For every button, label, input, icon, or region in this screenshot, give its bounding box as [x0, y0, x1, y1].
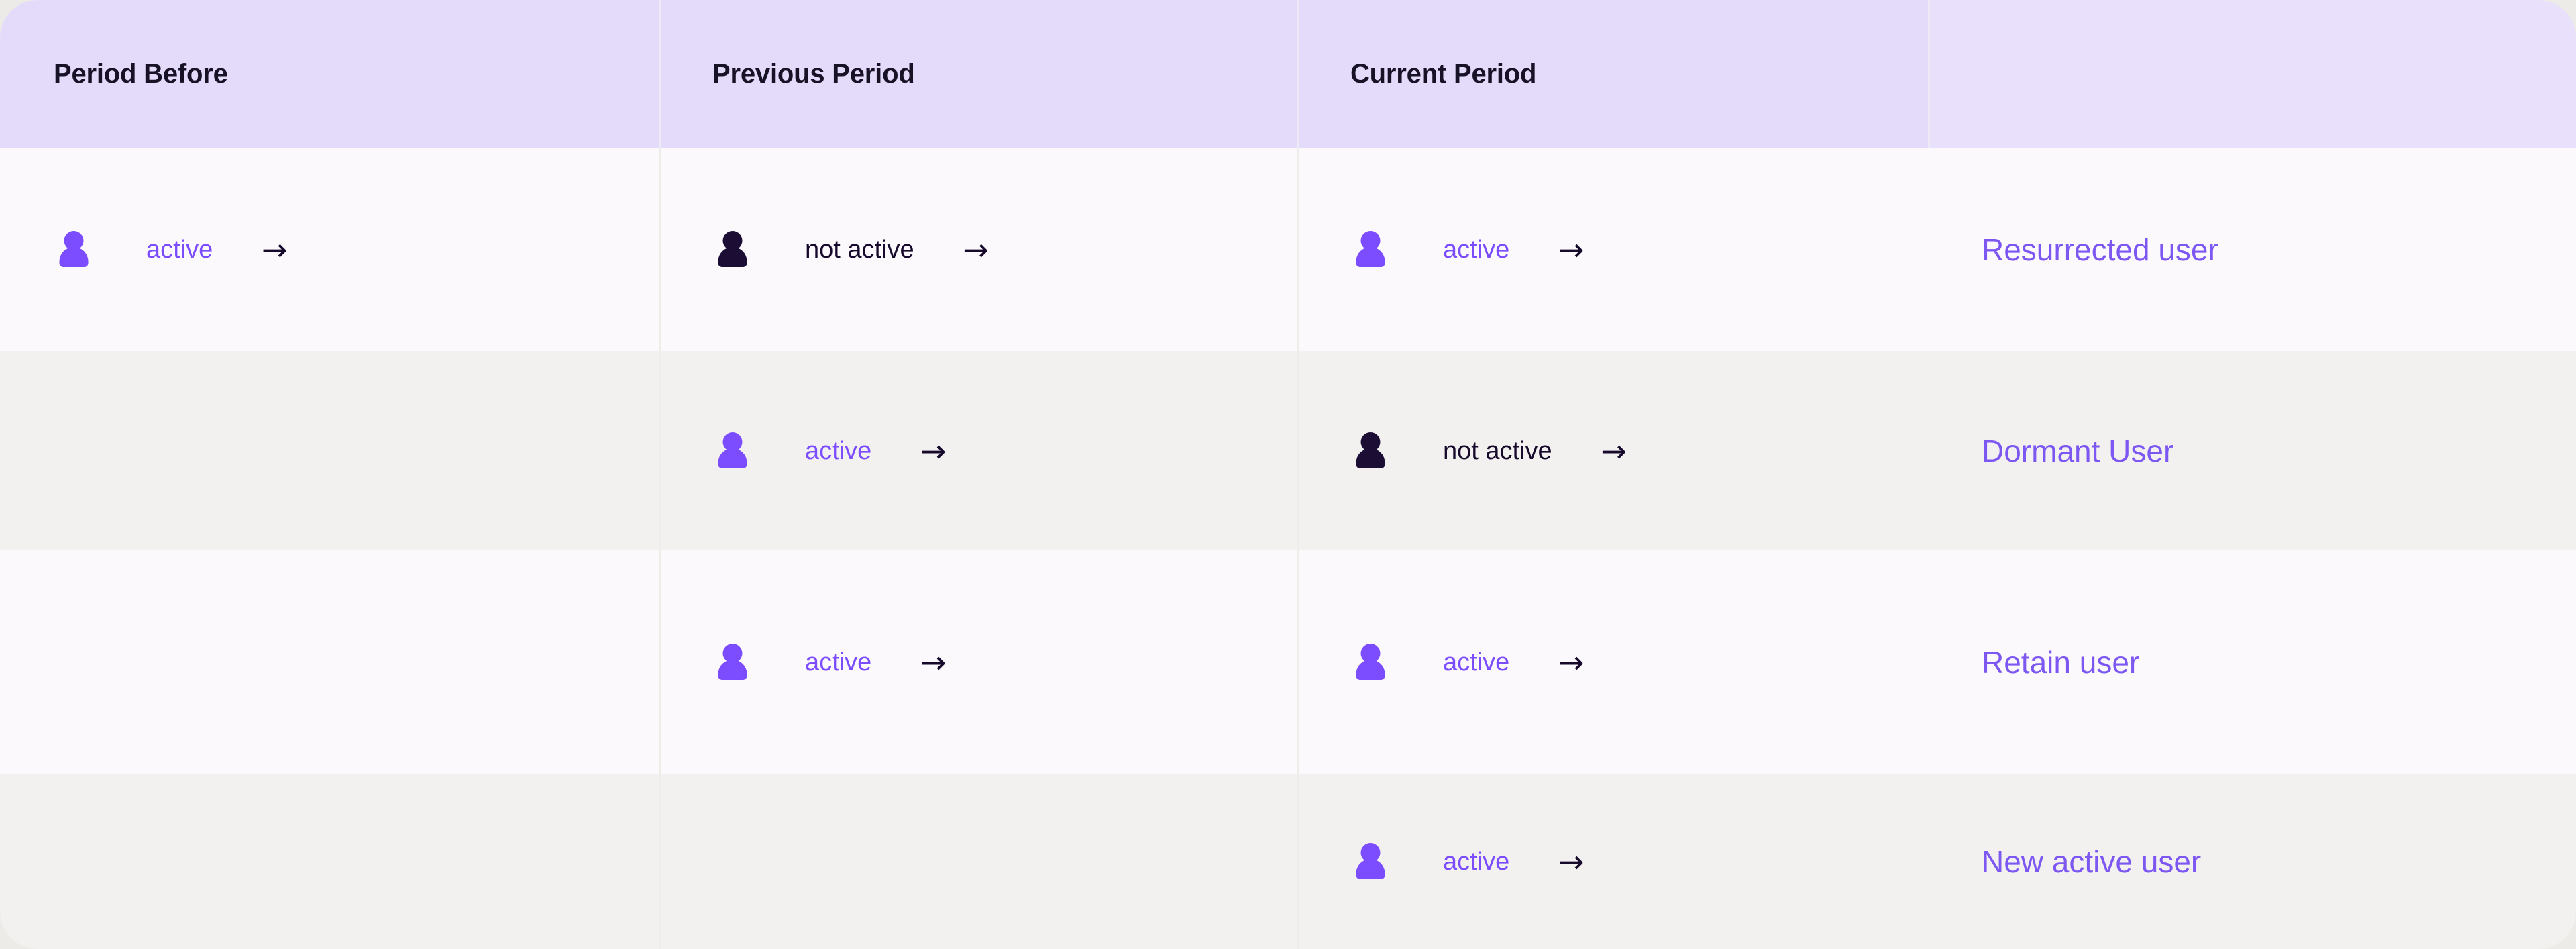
- state-group: active →: [712, 642, 953, 683]
- arrow-right-icon: →: [1551, 234, 1591, 265]
- cell-result: Dormant User: [1928, 351, 2576, 550]
- column-header-previous-period: Previous Period: [659, 0, 1297, 148]
- table-row: active → active → Retain user: [0, 550, 2576, 774]
- arrow-right-icon: →: [1551, 846, 1591, 877]
- state-group: not active →: [1350, 431, 1634, 471]
- state-label: not active: [1443, 438, 1552, 464]
- cell-current-period: active →: [1297, 148, 1928, 351]
- state-label: active: [1443, 650, 1509, 675]
- table-row: active → not active → Dormant User: [0, 351, 2576, 550]
- column-header-label: Period Before: [54, 60, 228, 87]
- user-icon: [1350, 431, 1391, 471]
- state-group: active →: [1350, 642, 1591, 683]
- cell-previous-period: active →: [659, 351, 1297, 550]
- arrow-right-icon: →: [913, 647, 953, 678]
- cell-result: Retain user: [1928, 550, 2576, 774]
- arrow-right-icon: →: [956, 234, 996, 265]
- result-label: Retain user: [1982, 647, 2139, 678]
- state-group: active →: [1350, 842, 1591, 882]
- result-label: New active user: [1982, 846, 2201, 877]
- user-icon: [54, 230, 94, 270]
- column-header-label: Previous Period: [712, 60, 915, 87]
- user-icon: [712, 642, 753, 683]
- arrow-right-icon: →: [254, 234, 294, 265]
- user-icon: [712, 230, 753, 270]
- cell-current-period: active →: [1297, 550, 1928, 774]
- user-icon: [1350, 642, 1391, 683]
- column-header-label: Current Period: [1350, 60, 1536, 87]
- cell-current-period: active →: [1297, 774, 1928, 949]
- cell-previous-period: [659, 774, 1297, 949]
- state-label: active: [1443, 237, 1509, 262]
- user-icon: [712, 431, 753, 471]
- cell-result: New active user: [1928, 774, 2576, 949]
- cell-previous-period: not active →: [659, 148, 1297, 351]
- state-group: active →: [712, 431, 953, 471]
- result-label: Resurrected user: [1982, 234, 2218, 265]
- table-header-row: Period Before Previous Period Current Pe…: [0, 0, 2576, 148]
- table-row: active → not active → active →: [0, 148, 2576, 351]
- cell-result: Resurrected user: [1928, 148, 2576, 351]
- arrow-right-icon: →: [1551, 647, 1591, 678]
- user-icon: [1350, 230, 1391, 270]
- result-label: Dormant User: [1982, 436, 2173, 466]
- state-label: active: [1443, 849, 1509, 875]
- state-group: not active →: [712, 230, 996, 270]
- state-label: not active: [805, 237, 914, 262]
- state-group: active →: [1350, 230, 1591, 270]
- column-header-period-before: Period Before: [0, 0, 659, 148]
- state-label: active: [146, 237, 213, 262]
- cell-period-before: active →: [0, 148, 659, 351]
- cell-period-before: [0, 774, 659, 949]
- arrow-right-icon: →: [913, 436, 953, 466]
- user-lifecycle-table: Period Before Previous Period Current Pe…: [0, 0, 2576, 949]
- column-header-result: [1928, 0, 2576, 148]
- cell-period-before: [0, 351, 659, 550]
- state-group: active →: [54, 230, 294, 270]
- column-header-current-period: Current Period: [1297, 0, 1928, 148]
- cell-previous-period: active →: [659, 550, 1297, 774]
- arrow-right-icon: →: [1594, 436, 1634, 466]
- state-label: active: [805, 650, 871, 675]
- user-icon: [1350, 842, 1391, 882]
- cell-current-period: not active →: [1297, 351, 1928, 550]
- table-row: active → New active user: [0, 774, 2576, 949]
- cell-period-before: [0, 550, 659, 774]
- state-label: active: [805, 438, 871, 464]
